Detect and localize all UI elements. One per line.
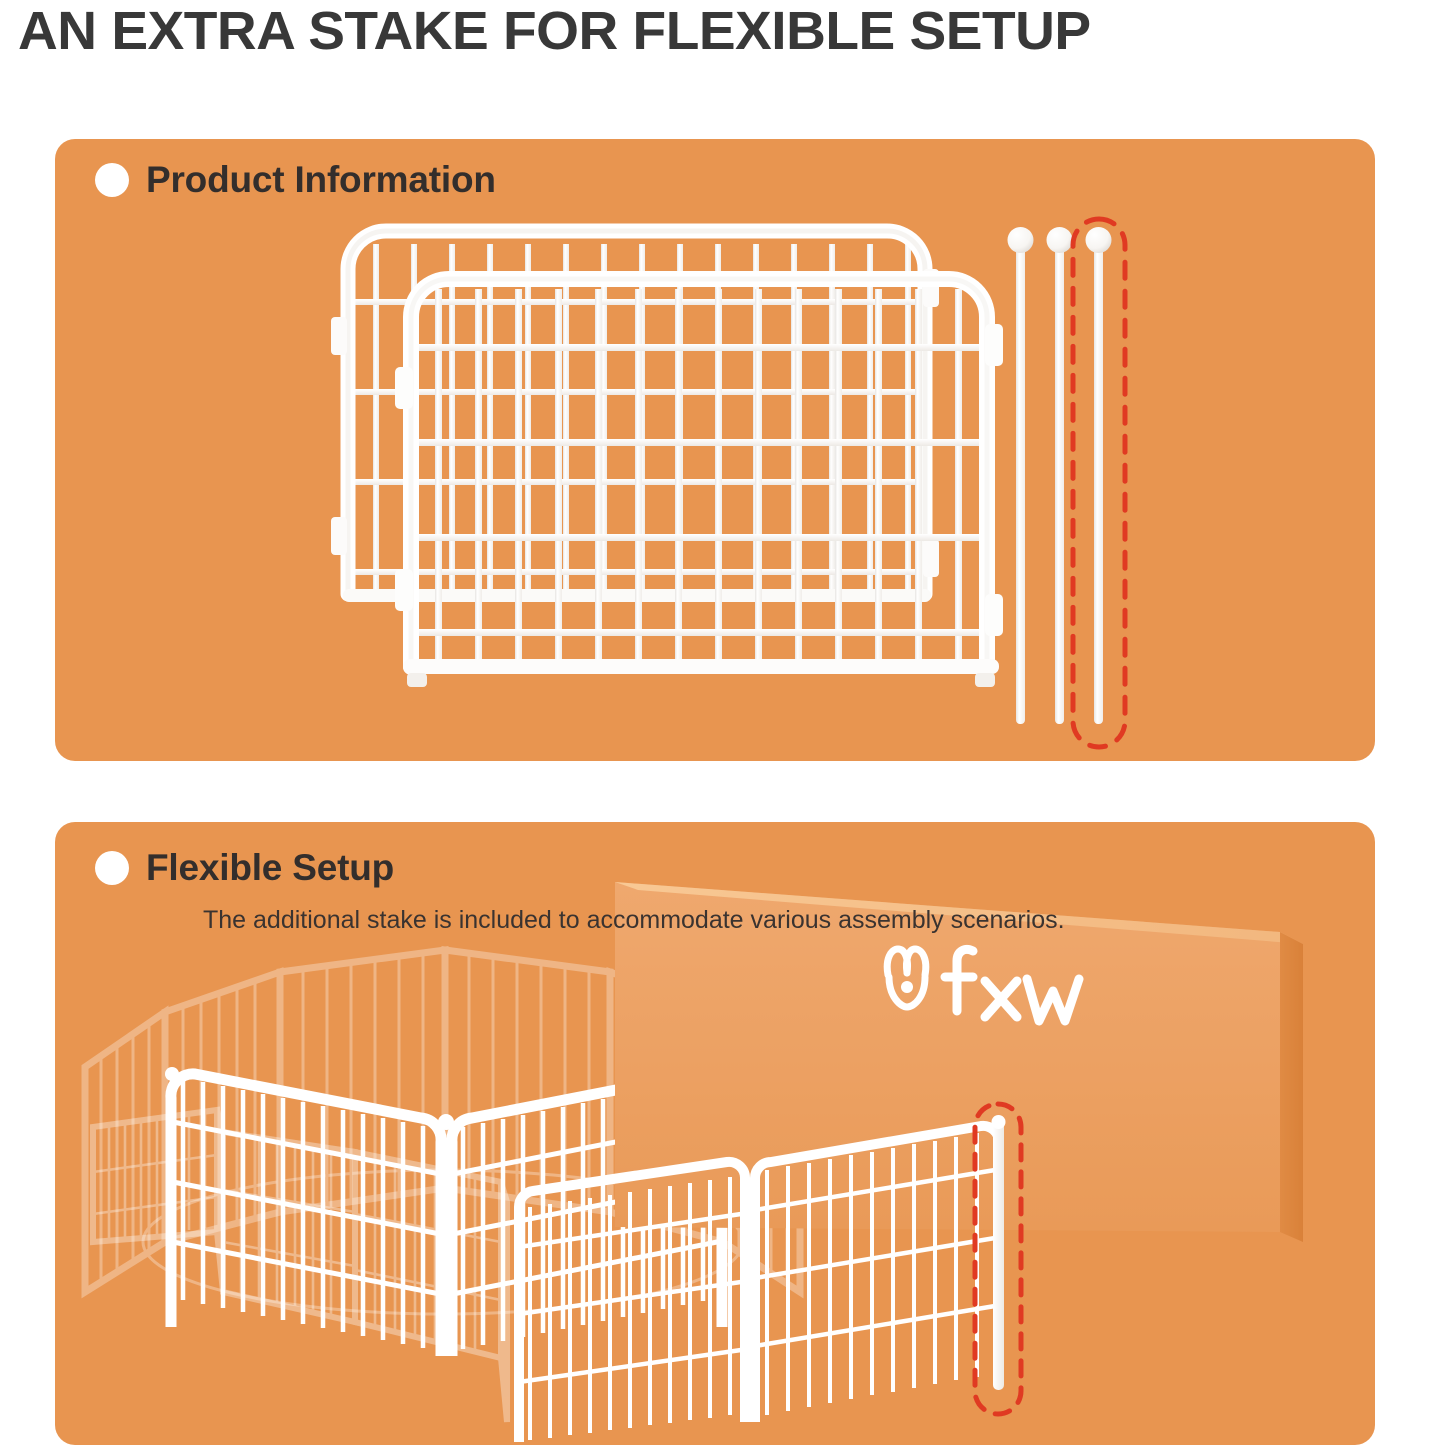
ground-stake-1 xyxy=(1008,227,1034,724)
white-dot-icon xyxy=(95,851,129,885)
section-heading-label: Product Information xyxy=(146,159,496,201)
product-information-artwork xyxy=(55,139,1375,761)
flexible-setup-subtitle: The additional stake is included to acco… xyxy=(203,905,1065,935)
product-information-panel: Product Information xyxy=(55,139,1375,761)
flexible-setup-panel: Flexible Setup The additional stake is i… xyxy=(55,822,1375,1445)
flexible-setup-heading: Flexible Setup xyxy=(95,847,394,889)
product-information-heading: Product Information xyxy=(95,159,496,201)
end-stake xyxy=(993,1122,1004,1390)
ground-stakes-group xyxy=(1008,219,1126,747)
ground-stake-3 xyxy=(1086,227,1112,724)
wall-setup-illustration xyxy=(93,882,1303,1442)
section-heading-label: Flexible Setup xyxy=(146,847,394,889)
page-title: AN EXTRA STAKE FOR FLEXIBLE SETUP xyxy=(18,2,1432,60)
infographic-page: AN EXTRA STAKE FOR FLEXIBLE SETUP xyxy=(0,0,1432,1455)
ground-stake-2 xyxy=(1047,227,1073,724)
wall-slab xyxy=(615,882,1303,1242)
white-dot-icon xyxy=(95,163,129,197)
